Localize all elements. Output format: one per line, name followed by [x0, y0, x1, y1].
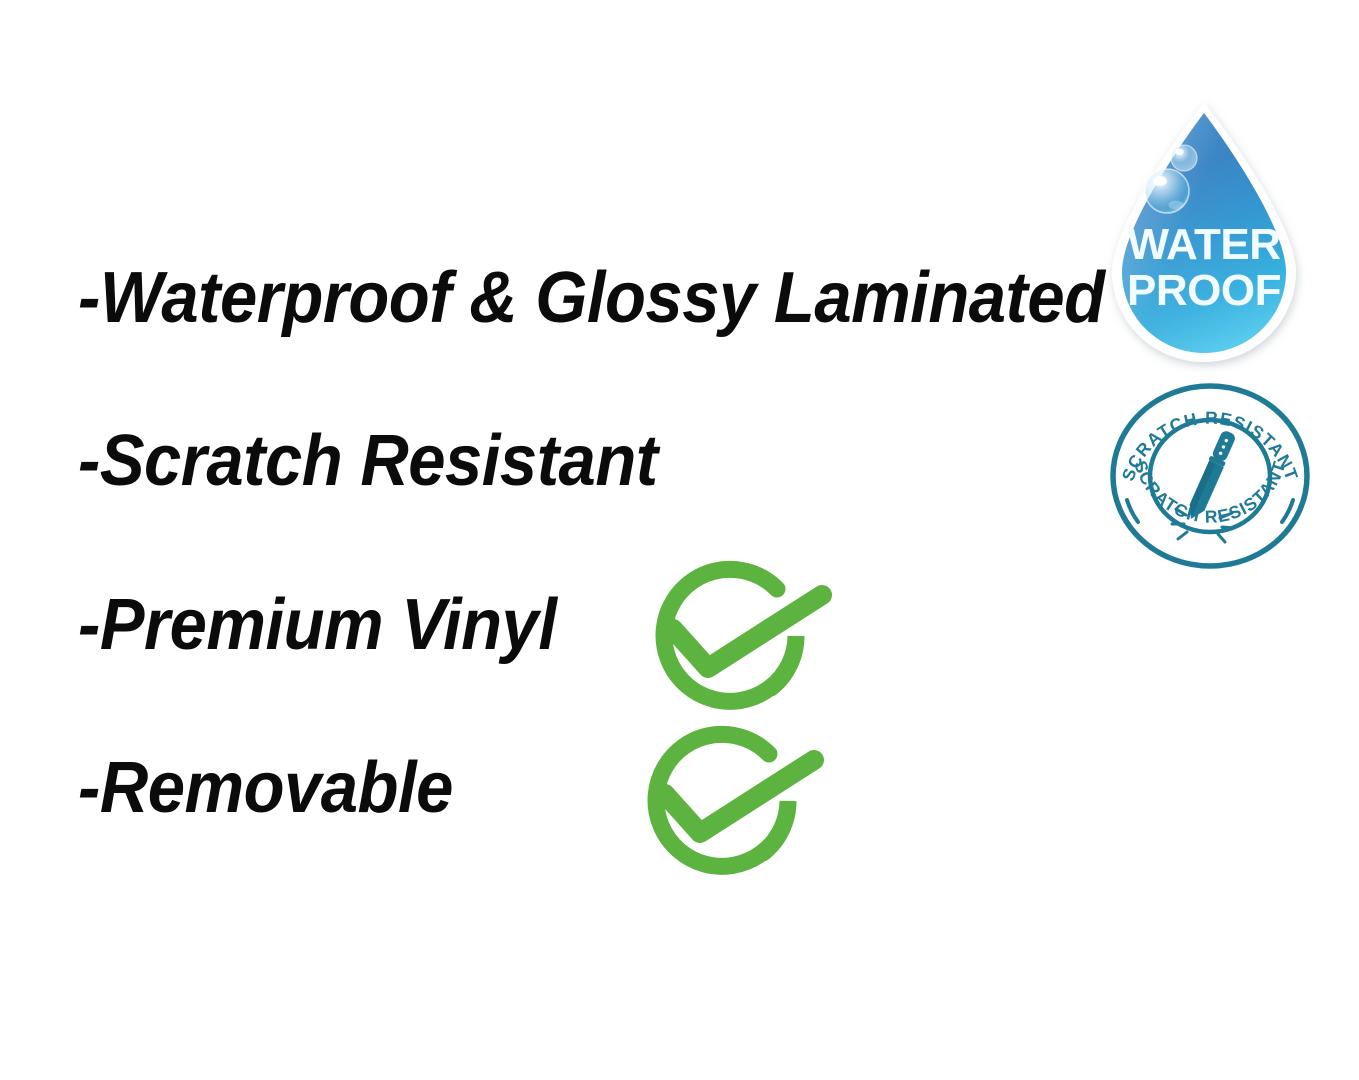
feature-item-scratch-resistant: -Scratch Resistant	[78, 425, 658, 497]
check-circle-icon-2	[632, 718, 832, 888]
check-circle-icon-1	[640, 553, 840, 723]
waterproof-badge: WATER PROOF	[1098, 96, 1310, 372]
product-feature-graphic: -Waterproof & Glossy Laminated -Scratch …	[0, 0, 1359, 1080]
waterproof-line1: WATER	[1127, 220, 1280, 269]
feature-list: -Waterproof & Glossy Laminated -Scratch …	[0, 0, 1100, 1080]
bubble-large-icon	[1145, 169, 1189, 213]
scratch-resistant-badge: SCRATCH RESISTANT SCRATCH RESISTANT	[1108, 382, 1312, 570]
feature-item-premium-vinyl: -Premium Vinyl	[78, 589, 556, 661]
waterproof-line2: PROOF	[1127, 266, 1281, 315]
feature-item-waterproof-glossy-laminated: -Waterproof & Glossy Laminated	[78, 262, 1105, 334]
stamp-dash-left	[1127, 500, 1138, 522]
bubble-small-icon	[1171, 145, 1197, 171]
feature-item-removable: -Removable	[78, 752, 453, 824]
stamp-dash-right	[1282, 500, 1293, 522]
